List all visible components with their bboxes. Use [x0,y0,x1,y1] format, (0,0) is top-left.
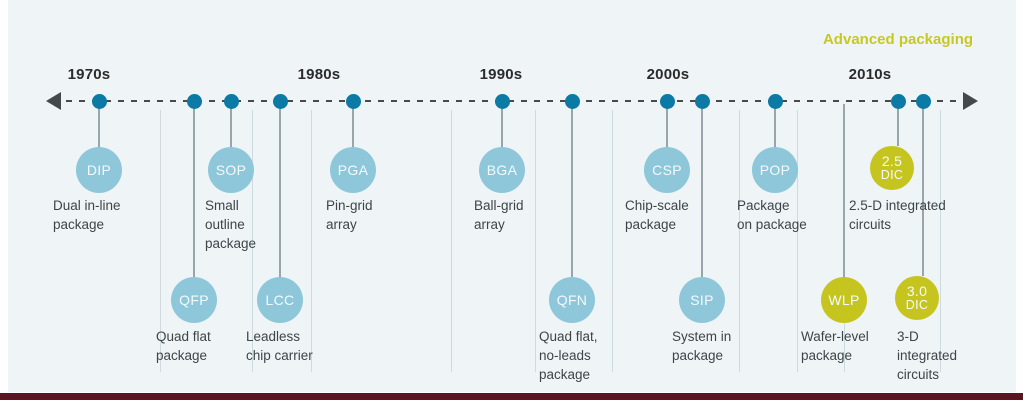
package-caption-sip: System in package [672,327,731,365]
node-stem-qfn [571,104,573,277]
package-abbr: LCC [266,293,295,307]
package-bubble-pop[interactable]: POP [752,147,798,193]
package-caption-2-5: 2.5-D integrated circuits [849,196,946,234]
package-bubble-wlp[interactable]: WLP [821,277,867,323]
axis-dot[interactable] [916,94,931,109]
package-abbr: PGA [338,163,368,177]
package-abbr: POP [760,163,790,177]
column-divider [797,110,798,372]
axis-dot[interactable] [273,94,288,109]
bottom-accent-bar [0,393,1023,400]
arrow-right-icon [963,92,978,110]
timeline-infographic: Advanced packaging 1970s1980s1990s2000s2… [0,0,1023,400]
package-abbr: 2.5 [882,154,902,168]
package-abbr: BGA [487,163,517,177]
package-abbr: QFP [179,293,209,307]
axis-dot[interactable] [92,94,107,109]
node-stem-qfp [193,104,195,277]
node-stem-dip [98,104,100,147]
package-bubble-qfp[interactable]: QFP [171,277,217,323]
package-bubble-2-5[interactable]: 2.5DIC [870,146,914,190]
package-abbr-line2: DIC [906,299,928,312]
package-abbr: WLP [828,293,859,307]
node-stem-sip [701,104,703,277]
package-abbr: CSP [652,163,682,177]
axis-dot[interactable] [346,94,361,109]
package-bubble-bga[interactable]: BGA [479,147,525,193]
package-bubble-3-0[interactable]: 3.0DIC [895,276,939,320]
package-caption-pga: Pin-grid array [326,196,373,234]
arrow-left-icon [46,92,61,110]
package-abbr-line2: DIC [881,169,903,182]
column-divider [739,110,740,372]
decade-label-2000s: 2000s [647,66,690,83]
advanced-packaging-label: Advanced packaging [823,31,973,48]
package-caption-bga: Ball-grid array [474,196,524,234]
node-stem-lcc [279,104,281,277]
node-stem-wlp [843,104,845,277]
package-bubble-lcc[interactable]: LCC [257,277,303,323]
package-abbr: DIP [87,163,111,177]
package-caption-dip: Dual in-line package [53,196,121,234]
package-abbr: SOP [216,163,246,177]
package-caption-sop: Small outline package [205,196,256,253]
node-stem-csp [666,104,668,147]
package-bubble-qfn[interactable]: QFN [549,277,595,323]
package-bubble-sop[interactable]: SOP [208,147,254,193]
axis-dot[interactable] [495,94,510,109]
axis-dot[interactable] [224,94,239,109]
package-bubble-dip[interactable]: DIP [76,147,122,193]
column-divider [535,110,536,372]
decade-label-2010s: 2010s [849,66,892,83]
node-stem-2-5 [897,104,899,146]
column-divider [612,110,613,372]
package-abbr: 3.0 [907,284,927,298]
package-caption-3-0: 3-D integrated circuits [897,327,957,384]
package-caption-csp: Chip-scale package [625,196,689,234]
axis-dot[interactable] [187,94,202,109]
node-stem-pga [352,104,354,147]
package-bubble-pga[interactable]: PGA [330,147,376,193]
decade-label-1980s: 1980s [298,66,341,83]
package-bubble-csp[interactable]: CSP [644,147,690,193]
axis-dot[interactable] [695,94,710,109]
axis-dot[interactable] [565,94,580,109]
package-caption-qfp: Quad flat package [156,327,211,365]
package-caption-qfn: Quad flat, no-leads package [539,327,598,384]
axis-dot[interactable] [768,94,783,109]
axis-dot[interactable] [660,94,675,109]
axis-dot[interactable] [891,94,906,109]
node-stem-3-0 [922,104,924,276]
package-abbr: QFN [557,293,587,307]
decade-label-1970s: 1970s [68,66,111,83]
node-stem-pop [774,104,776,147]
node-stem-bga [501,104,503,147]
package-caption-lcc: Leadless chip carrier [246,327,313,365]
infographic-panel: Advanced packaging 1970s1980s1990s2000s2… [8,0,1016,392]
package-caption-pop: Package on package [737,196,807,234]
decade-label-1990s: 1990s [480,66,523,83]
package-caption-wlp: Wafer-level package [801,327,869,365]
package-abbr: SIP [690,293,713,307]
package-bubble-sip[interactable]: SIP [679,277,725,323]
column-divider [451,110,452,372]
node-stem-sop [230,104,232,147]
